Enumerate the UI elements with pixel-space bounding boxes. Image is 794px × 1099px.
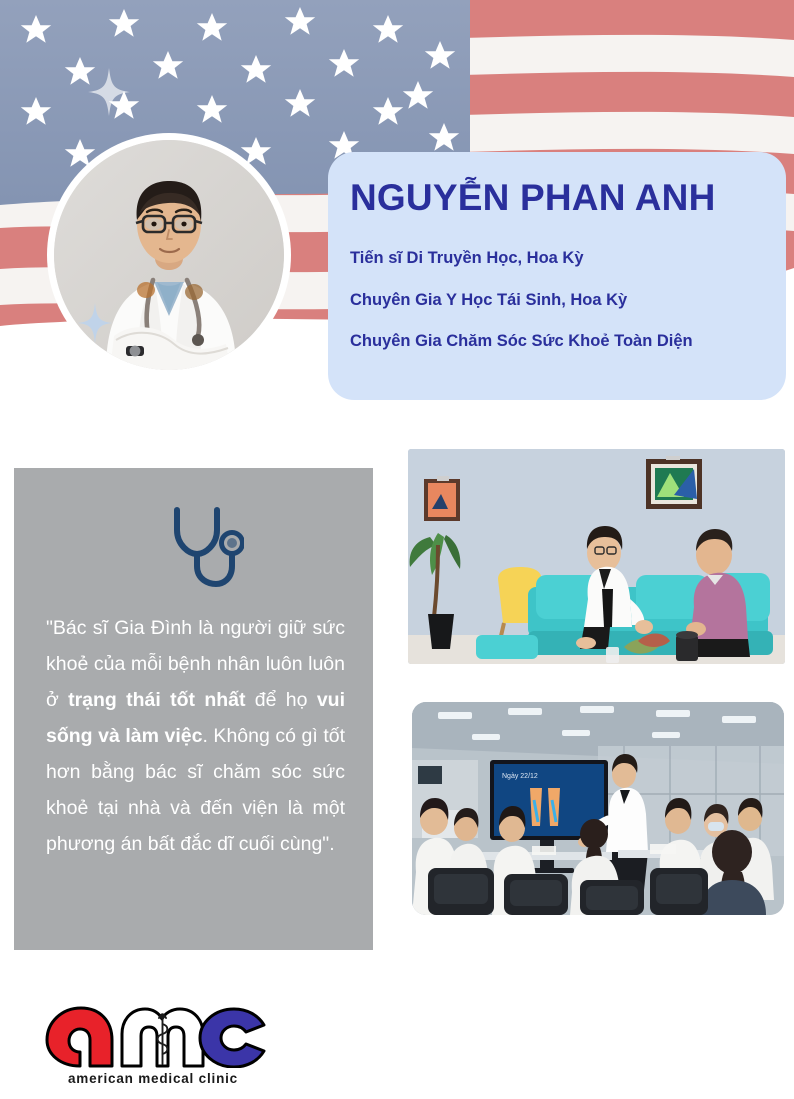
logo-tagline: american medical clinic [28, 1071, 278, 1086]
logo-letter-c [200, 1009, 264, 1067]
sparkle-icon [78, 303, 112, 343]
screen-label: Ngày 22/12 [502, 773, 538, 780]
credentials-list: Tiến sĩ Di Truyền Học, Hoa Kỳ Chuyên Gia… [350, 248, 768, 352]
logo-letter-a [47, 1008, 112, 1066]
quote-text: "Bác sĩ Gia Đình là người giữ sức khoẻ c… [46, 610, 345, 862]
training-photo: Ngày 22/12 [412, 702, 784, 915]
stethoscope-icon [166, 504, 244, 590]
credential-item: Chuyên Gia Y Học Tái Sinh, Hoa Kỳ [350, 290, 768, 311]
consultation-photo [408, 449, 785, 664]
amc-logo: american medical clinic [28, 1006, 278, 1092]
doctor-info-card: NGUYỄN PHAN ANH Tiến sĩ Di Truyền Học, H… [328, 152, 786, 400]
consultation-illustration [408, 449, 785, 664]
sparkle-icon [88, 68, 130, 116]
doctor-name: NGUYỄN PHAN ANH [350, 178, 768, 218]
amc-logo-mark [42, 1006, 270, 1068]
poster-canvas: NGUYỄN PHAN ANH Tiến sĩ Di Truyền Học, H… [0, 0, 794, 1099]
quote-panel: "Bác sĩ Gia Đình là người giữ sức khoẻ c… [14, 468, 373, 950]
credential-item: Chuyên Gia Chăm Sóc Sức Khoẻ Toàn Diện [350, 331, 768, 352]
logo-letter-m [122, 1009, 203, 1066]
quote-part: để họ [246, 689, 317, 711]
quote-part-bold: trạng thái tốt nhất [68, 689, 245, 711]
credential-item: Tiến sĩ Di Truyền Học, Hoa Kỳ [350, 248, 768, 269]
training-illustration: Ngày 22/12 [412, 702, 784, 915]
